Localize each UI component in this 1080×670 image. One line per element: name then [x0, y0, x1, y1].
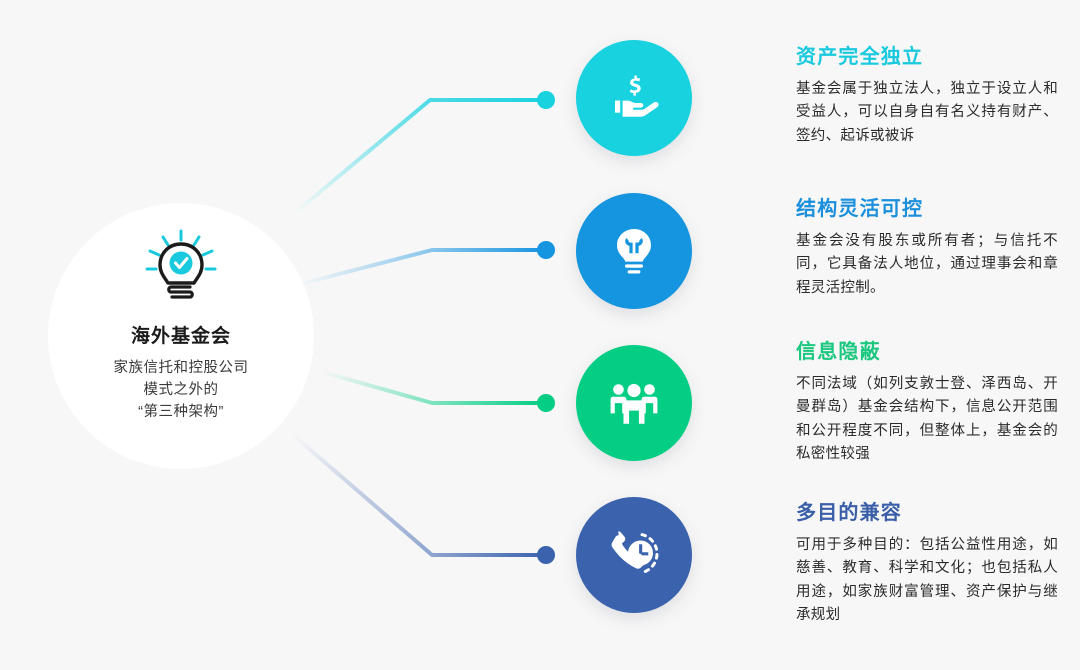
item-icon-bubble-information-privacy[interactable] [576, 345, 692, 461]
hub-subtitle-line: 模式之外的 [114, 379, 249, 401]
connector-dot-3 [537, 394, 555, 412]
hub-subtitle: 家族信托和控股公司 模式之外的 “第三种架构” [114, 357, 249, 423]
connector-path-4 [292, 434, 545, 555]
item-icon-bubble-multi-purpose[interactable] [576, 497, 692, 613]
hub-subtitle-line: “第三种架构” [114, 401, 249, 423]
item-icon-bubble-asset-independence[interactable] [576, 40, 692, 156]
item-icon-bubble-flexible-structure[interactable] [576, 193, 692, 309]
phone-clock-icon [609, 530, 659, 580]
connector-dot-4 [537, 546, 555, 564]
hub-subtitle-line: 家族信托和控股公司 [114, 357, 249, 379]
lightbulb-icon [613, 227, 655, 275]
connector-path-3 [322, 372, 545, 403]
hand-holding-dollar-icon [609, 73, 659, 123]
connector-path-1 [296, 100, 545, 212]
hub-title: 海外基金会 [131, 321, 231, 348]
people-group-icon [609, 381, 659, 425]
connector-dot-1 [537, 91, 555, 109]
connector-path-2 [300, 250, 545, 284]
central-hub: 海外基金会 家族信托和控股公司 模式之外的 “第三种架构” [48, 203, 314, 469]
infographic-canvas: 海外基金会 家族信托和控股公司 模式之外的 “第三种架构” [0, 0, 1080, 670]
lightbulb-check-icon [144, 229, 218, 305]
connector-dot-2 [537, 241, 555, 259]
